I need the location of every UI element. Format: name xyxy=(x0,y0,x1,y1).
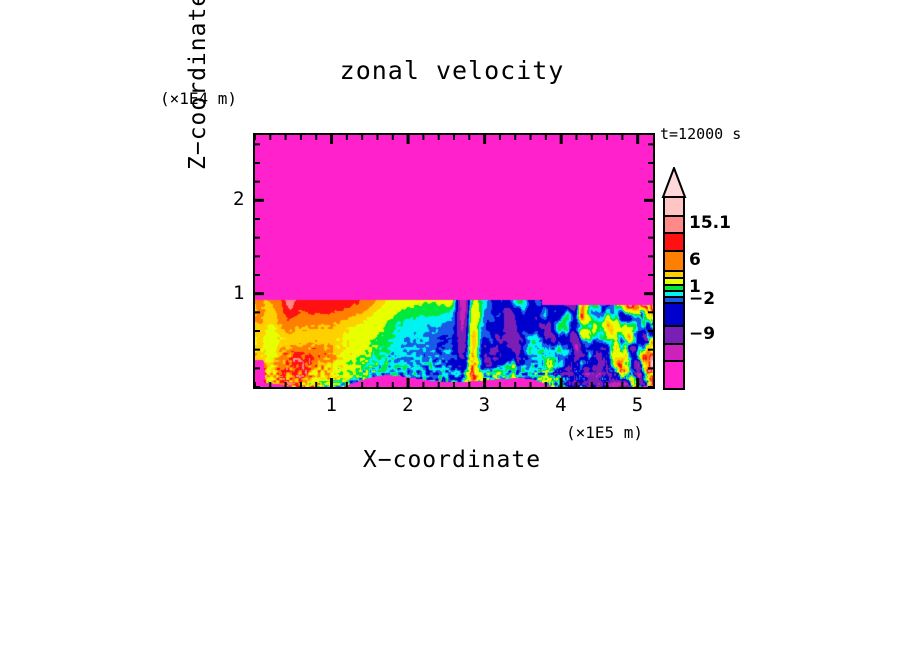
x-tick-label: 5 xyxy=(632,394,643,416)
page-title: zonal velocity xyxy=(0,56,904,85)
timestamp-label: t=12000 s xyxy=(660,125,741,143)
colorbar-band xyxy=(665,327,683,345)
x-tick-label: 3 xyxy=(479,394,490,416)
y-axis-label: Z−coordinate xyxy=(185,0,211,170)
contour-field xyxy=(255,135,653,387)
y-tick-label: 1 xyxy=(233,282,244,304)
colorbar-band xyxy=(665,279,683,286)
colorbar-band xyxy=(665,198,683,217)
colorbar-band xyxy=(665,362,683,388)
colorbar-arrow-icon xyxy=(661,167,687,198)
colorbar-band xyxy=(665,304,683,327)
colorbar-tick-label: −9 xyxy=(689,324,715,344)
x-tick-label: 1 xyxy=(326,394,337,416)
colorbar-band xyxy=(665,234,683,252)
contour-plot xyxy=(253,133,655,389)
x-axis-label: X−coordinate xyxy=(0,447,904,473)
figure-canvas: zonal velocity (×1E4 m) (×1E5 m) t=12000… xyxy=(0,0,904,654)
colorbar-tick-label: 15.1 xyxy=(689,213,731,233)
colorbar-band xyxy=(665,252,683,273)
colorbar-tick-label: 6 xyxy=(689,250,701,270)
colorbar-band xyxy=(665,345,683,363)
colorbar xyxy=(663,196,685,390)
colorbar-band xyxy=(665,217,683,235)
x-tick-label: 4 xyxy=(555,394,566,416)
colorbar-tick-label: −2 xyxy=(689,289,715,309)
x-tick-label: 2 xyxy=(402,394,413,416)
x-axis-units: (×1E5 m) xyxy=(566,423,643,442)
y-tick-label: 2 xyxy=(233,188,244,210)
